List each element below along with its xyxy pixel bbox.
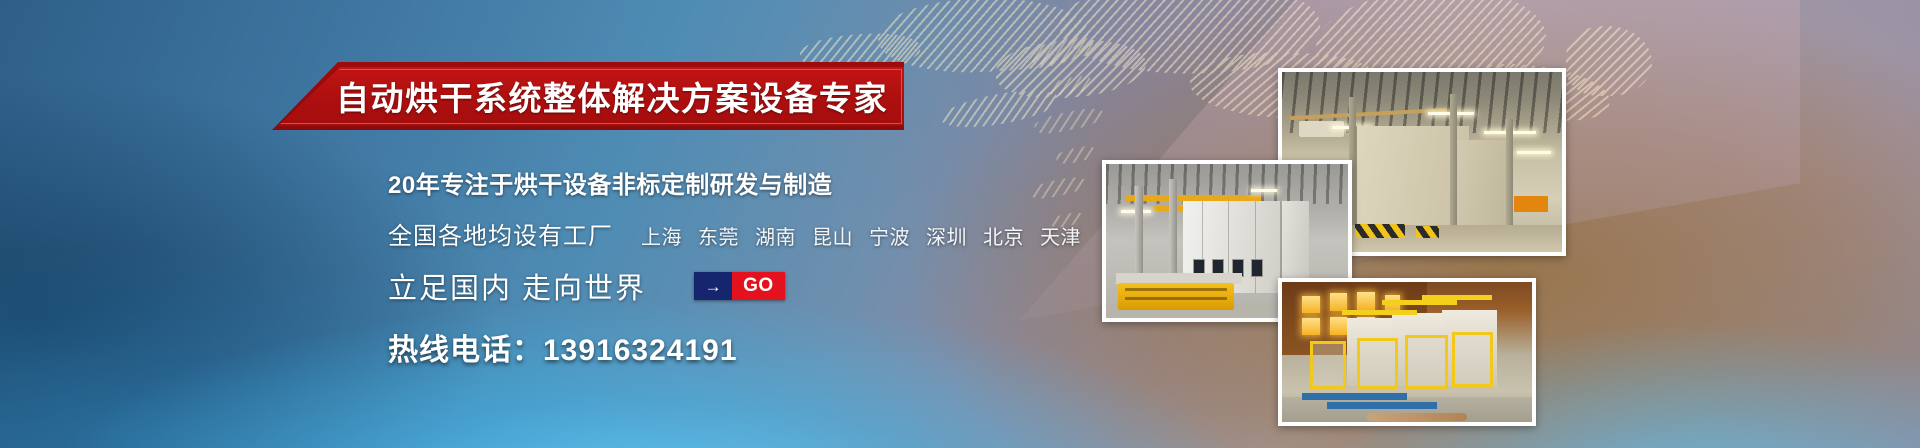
hotline-text: 热线电话：13916324191: [388, 325, 1148, 369]
photo-image: [1282, 282, 1532, 422]
city-list: 上海 东莞 湖南 昆山 宁波 深圳 北京 天津: [641, 221, 1081, 250]
go-button[interactable]: → GO: [694, 272, 785, 300]
city-item: 深圳: [926, 221, 967, 250]
city-item: 湖南: [755, 221, 796, 250]
photo-yellow-framed-drying-line: [1278, 278, 1536, 426]
city-item: 宁波: [869, 221, 910, 250]
city-item: 东莞: [698, 221, 739, 250]
slogan-text: 立足国内 走向世界: [388, 265, 646, 307]
subtitle-text: 20年专注于烘干设备非标定制研发与制造: [388, 165, 1148, 200]
headline-ribbon: 自动烘干系统整体解决方案设备专家: [272, 62, 904, 130]
city-item: 天津: [1040, 221, 1081, 250]
promo-banner: 自动烘干系统整体解决方案设备专家 20年专注于烘干设备非标定制研发与制造 全国各…: [0, 0, 1920, 448]
go-button-label: GO: [732, 272, 785, 300]
city-item: 上海: [641, 221, 682, 250]
factories-line: 全国各地均设有工厂 上海 东莞 湖南 昆山 宁波 深圳 北京 天津: [388, 216, 1148, 251]
arrow-right-icon: →: [694, 272, 732, 300]
copy-block: 20年专注于烘干设备非标定制研发与制造 全国各地均设有工厂 上海 东莞 湖南 昆…: [388, 165, 1148, 369]
factories-label: 全国各地均设有工厂: [388, 216, 613, 251]
headline-text: 自动烘干系统整体解决方案设备专家: [272, 62, 904, 130]
city-item: 北京: [983, 221, 1024, 250]
city-item: 昆山: [812, 221, 853, 250]
slogan-line: 立足国内 走向世界 → GO: [388, 265, 1148, 307]
